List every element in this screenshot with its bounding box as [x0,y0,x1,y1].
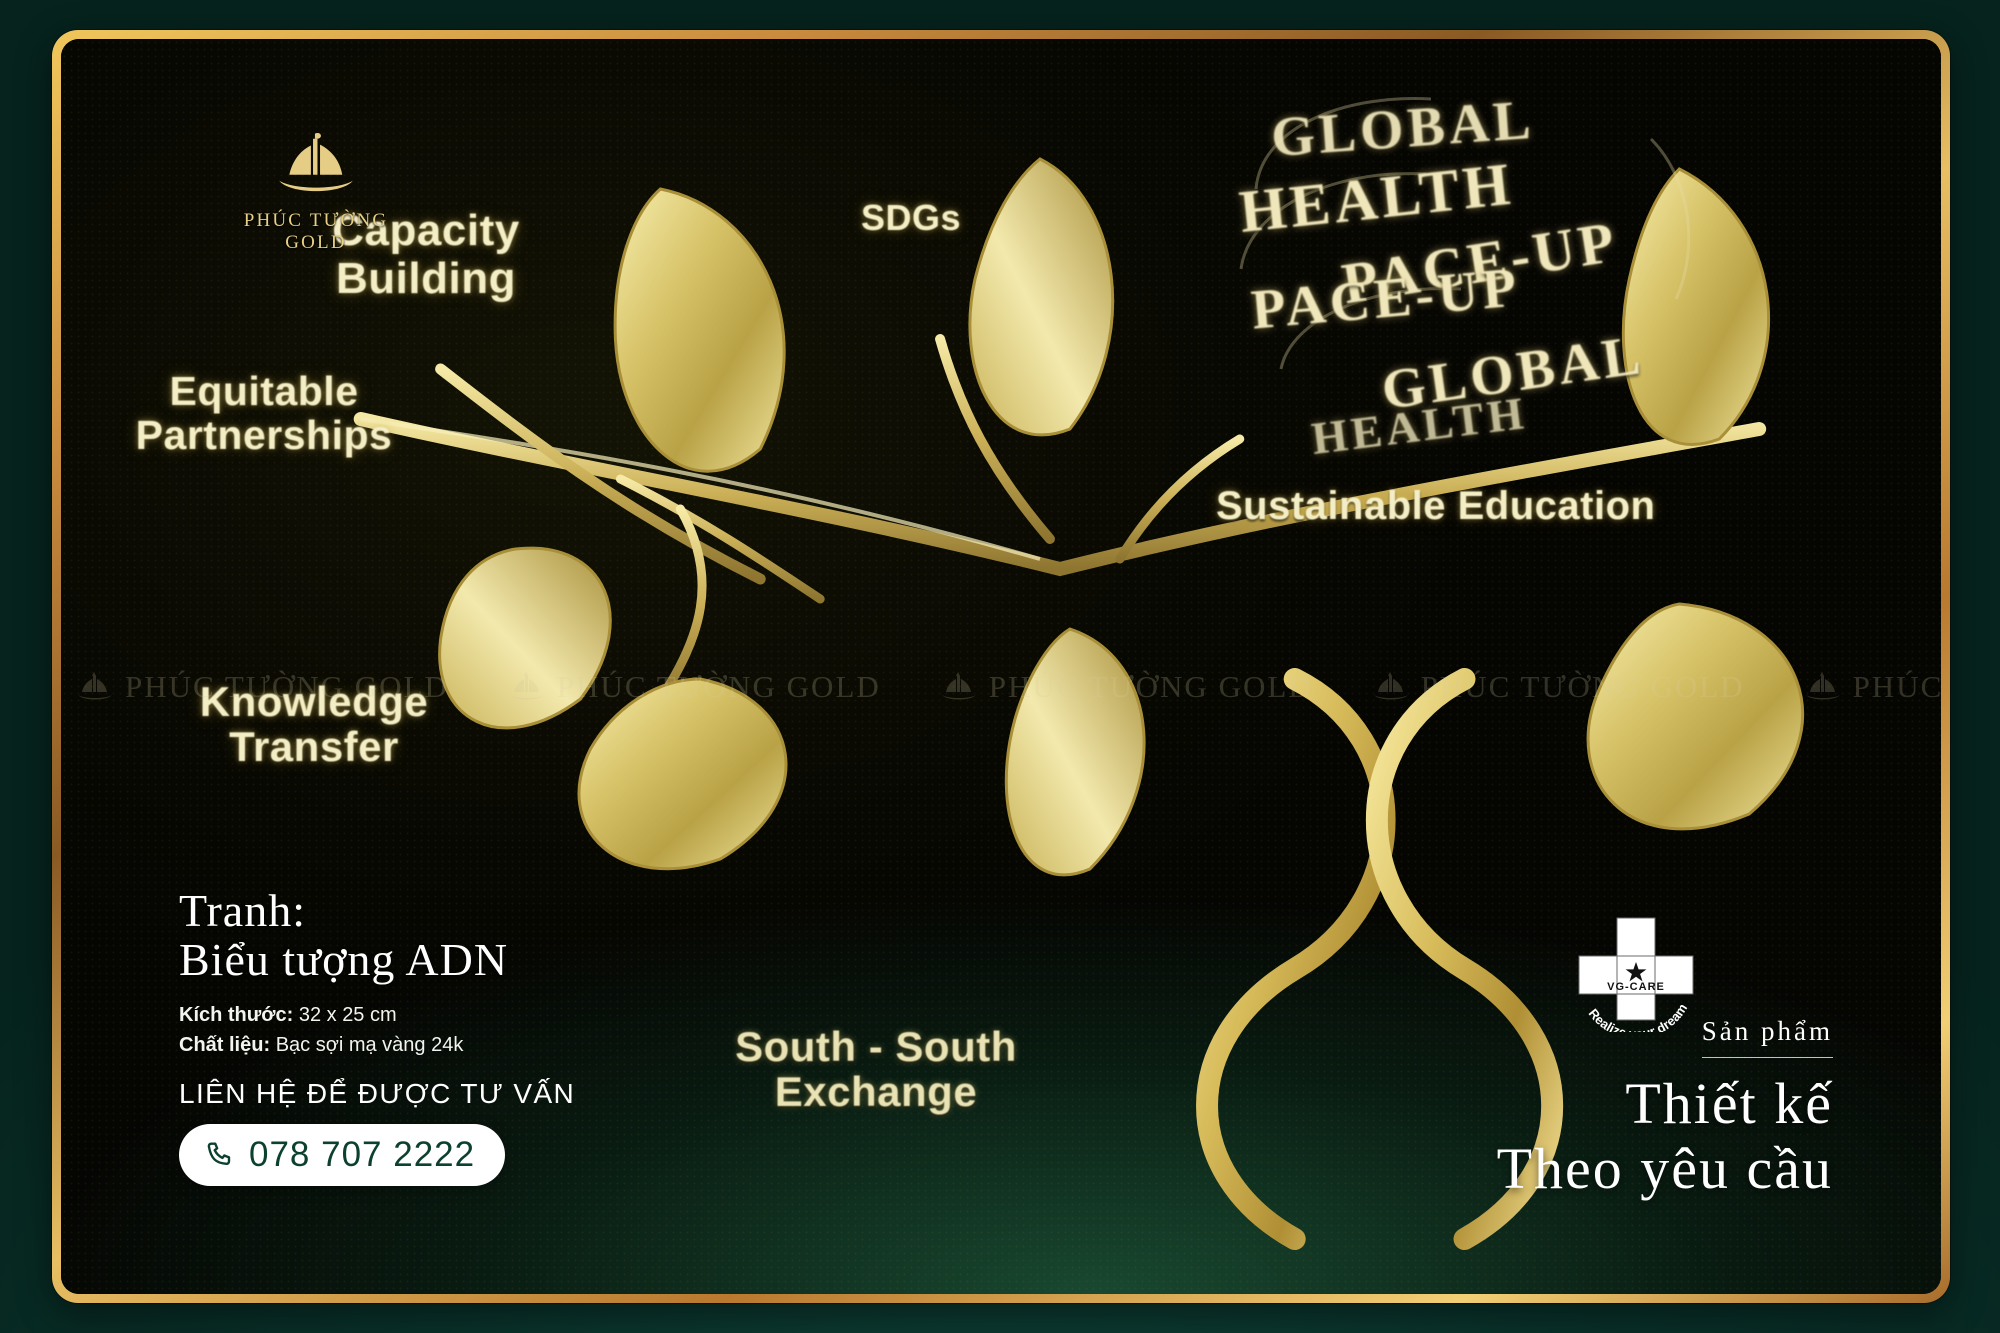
label-equitable-partnerships: EquitablePartnerships [129,369,399,458]
phone-button[interactable]: 078 707 2222 [179,1124,505,1186]
vg-care-mark-text: VG-CARE [1607,981,1665,993]
poster: GLOBAL HEALTH PACE-UP PACE-UP GLOBAL HEA… [0,0,2000,1333]
label-sustainable-education: Sustainable Education [1216,485,1655,528]
spec-material-value: Bạc sợi mạ vàng 24k [276,1034,464,1056]
brand-logo: PHÚC TƯỜNG GOLD [211,129,421,254]
spec-material: Chất liệu: Bạc sợi mạ vàng 24k [179,1030,575,1060]
brand-name: PHÚC TƯỜNG GOLD [211,210,421,254]
product-info: Tranh: Biểu tượng ADN Kích thước: 32 x 2… [179,888,575,1186]
phone-number: 078 707 2222 [249,1135,475,1175]
footer-line1: Thiết kế [1497,1072,1833,1137]
spec-size-label: Kích thước: [179,1004,293,1026]
product-specs: Kích thước: 32 x 25 cm Chất liệu: Bạc sợ… [179,1000,575,1060]
frame-inner: GLOBAL HEALTH PACE-UP PACE-UP GLOBAL HEA… [61,39,1941,1294]
plaque-photo: GLOBAL HEALTH PACE-UP PACE-UP GLOBAL HEA… [61,39,1941,1294]
footer-block: Sản phẩm Thiết kế Theo yêu cầu [1497,1016,1833,1202]
engraved-spiral-stamp: GLOBAL HEALTH PACE-UP PACE-UP GLOBAL HEA… [1221,69,1721,449]
sailing-ship-icon [268,129,364,201]
spec-material-label: Chất liệu: [179,1034,270,1056]
product-title-line1: Tranh: [179,888,575,935]
footer-line2: Theo yêu cầu [1497,1137,1833,1202]
phone-icon [203,1139,235,1171]
spec-size: Kích thước: 32 x 25 cm [179,1000,575,1030]
label-south-south-exchange: South - SouthExchange [701,1024,1051,1115]
spec-size-value: 32 x 25 cm [299,1004,397,1026]
product-title-line2: Biểu tượng ADN [179,937,575,984]
gold-frame: GLOBAL HEALTH PACE-UP PACE-UP GLOBAL HEA… [52,30,1950,1303]
label-sdgs: SDGs [861,199,961,238]
contact-cta-text: LIÊN HỆ ĐỂ ĐƯỢC TƯ VẤN [179,1078,575,1110]
label-knowledge-transfer: KnowledgeTransfer [189,679,439,770]
customer-logo: VG-CARE Realize your dreams [1571,912,1701,1032]
footer-kicker: Sản phẩm [1702,1016,1833,1058]
